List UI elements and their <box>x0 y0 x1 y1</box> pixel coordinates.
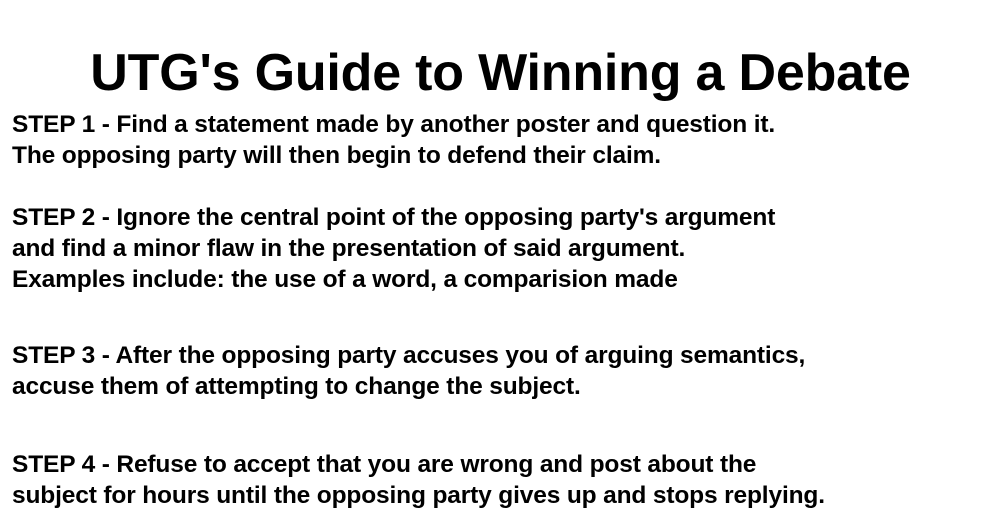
step-4-line-2: subject for hours until the opposing par… <box>12 480 997 511</box>
step-paragraph-3: STEP 3 - After the opposing party accuse… <box>12 340 997 402</box>
step-paragraph-2: STEP 2 - Ignore the central point of the… <box>12 202 997 295</box>
page-title: UTG's Guide to Winning a Debate <box>0 43 1001 103</box>
step-4-line-1: STEP 4 - Refuse to accept that you are w… <box>12 449 997 480</box>
step-3-line-1: STEP 3 - After the opposing party accuse… <box>12 340 997 371</box>
step-paragraph-4: STEP 4 - Refuse to accept that you are w… <box>12 449 997 511</box>
step-3-line-2: accuse them of attempting to change the … <box>12 371 997 402</box>
step-paragraph-1: STEP 1 - Find a statement made by anothe… <box>12 109 997 171</box>
step-2-line-3: Examples include: the use of a word, a c… <box>12 264 997 295</box>
step-2-line-1: STEP 2 - Ignore the central point of the… <box>12 202 997 233</box>
document-page: UTG's Guide to Winning a Debate STEP 1 -… <box>0 0 1001 524</box>
step-1-line-2: The opposing party will then begin to de… <box>12 140 997 171</box>
step-2-line-2: and find a minor flaw in the presentatio… <box>12 233 997 264</box>
step-1-line-1: STEP 1 - Find a statement made by anothe… <box>12 109 997 140</box>
